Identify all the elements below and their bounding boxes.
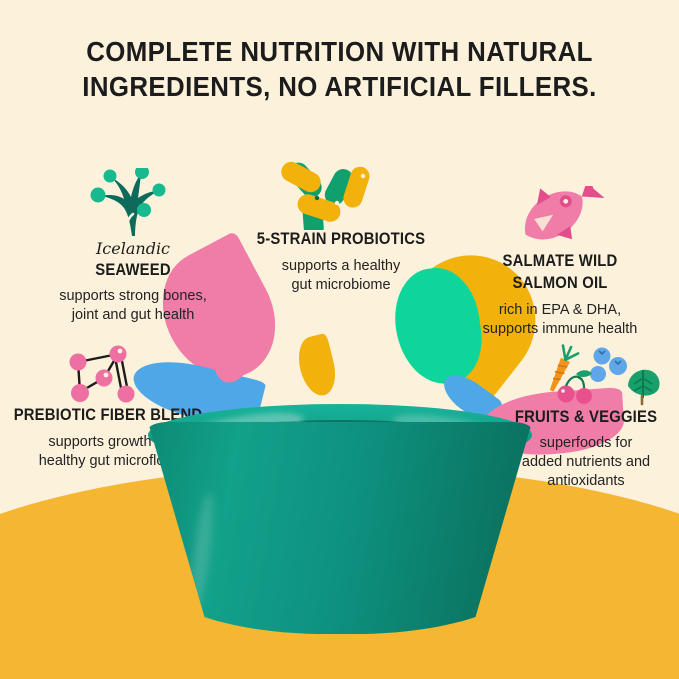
callout-probiotics: 5-STRAIN PROBIOTICS supports a healthy g…	[241, 152, 441, 295]
callout-probiotics-title: 5-STRAIN PROBIOTICS	[251, 230, 431, 249]
callout-salmon-oil-desc-1: rich in EPA & DHA,	[455, 301, 665, 320]
headline-line-2: INGREDIENTS, NO ARTIFICIAL FILLERS.	[20, 69, 658, 104]
callout-salmon-oil-desc-2: supports immune health	[455, 320, 665, 339]
bowl-body	[148, 422, 532, 634]
fish-icon	[455, 186, 665, 252]
callout-seaweed: Icelandic SEAWEED supports strong bones,…	[20, 168, 246, 325]
callout-probiotics-desc-2: gut microbiome	[241, 276, 441, 295]
callout-seaweed-title: SEAWEED	[31, 261, 234, 280]
callout-salmon-oil: SALMATE WILD SALMON OIL rich in EPA & DH…	[455, 186, 665, 339]
callout-seaweed-desc-2: joint and gut health	[20, 306, 246, 325]
probiotics-capsules-icon	[241, 152, 441, 230]
page-headline: COMPLETE NUTRITION WITH NATURAL INGREDIE…	[20, 34, 658, 104]
infographic-canvas: COMPLETE NUTRITION WITH NATURAL INGREDIE…	[0, 0, 679, 679]
molecule-icon	[2, 344, 214, 406]
bowl-side-highlight	[187, 491, 218, 612]
headline-line-1: COMPLETE NUTRITION WITH NATURAL	[20, 34, 658, 69]
callout-probiotics-desc-1: supports a healthy	[241, 257, 441, 276]
callout-seaweed-script: Icelandic	[20, 240, 246, 258]
dog-food-bowl	[148, 398, 532, 634]
callout-salmon-oil-title-1: SALMATE WILD	[466, 252, 655, 271]
seaweed-icon	[20, 168, 246, 240]
callout-seaweed-desc-1: supports strong bones,	[20, 287, 246, 306]
callout-salmon-oil-title-2: SALMON OIL	[466, 274, 655, 293]
